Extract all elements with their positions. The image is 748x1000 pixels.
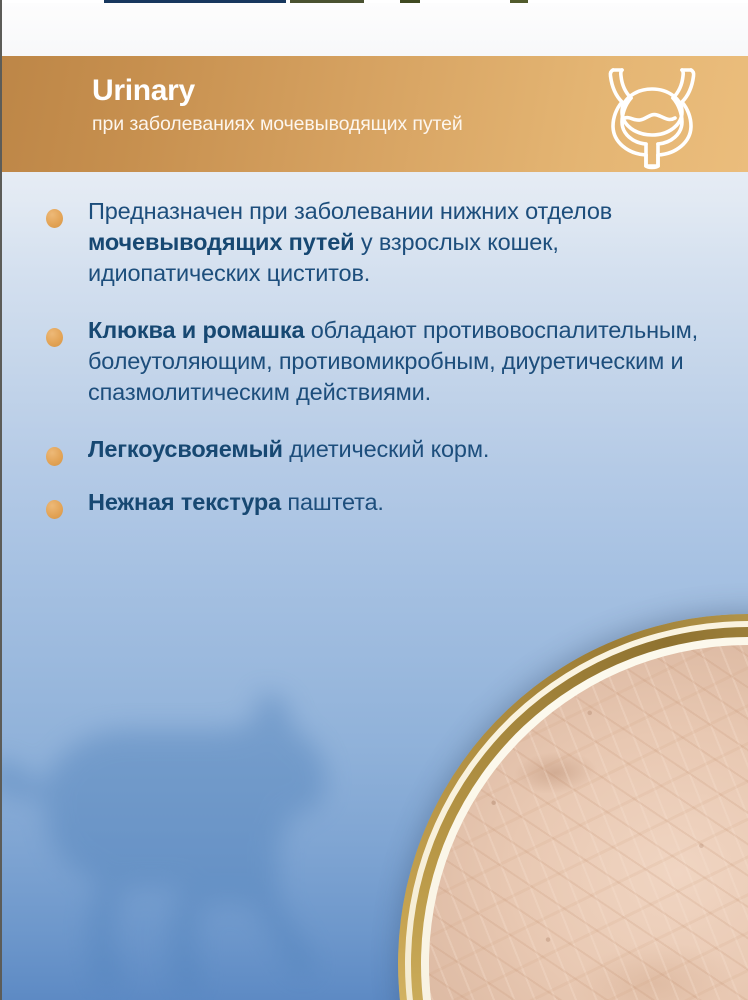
- top-white-margin: [0, 3, 748, 56]
- bullet-dot-icon: [46, 209, 63, 228]
- bullet-text: Легкоусвояемый диетический корм.: [88, 434, 724, 465]
- pate-surface: [408, 624, 748, 1000]
- cat-silhouette-icon: [0, 640, 442, 1000]
- list-item: Легкоусвояемый диетический корм.: [0, 434, 748, 465]
- bullet-text: Нежная текстура паштета.: [88, 487, 724, 518]
- list-item: Нежная текстура паштета.: [0, 487, 748, 518]
- product-info-slide: Urinary при заболеваниях мочевыводящих п…: [0, 0, 748, 1000]
- bladder-icon: [600, 62, 704, 170]
- feature-list: Предназначен при заболевании нижних отде…: [0, 196, 748, 540]
- page-subtitle: при заболеваниях мочевыводящих путей: [92, 113, 463, 135]
- bullet-dot-icon: [46, 328, 63, 347]
- bullet-dot-icon: [46, 447, 63, 466]
- header-text-group: Urinary при заболеваниях мочевыводящих п…: [92, 75, 463, 135]
- bullet-dot-icon: [46, 500, 63, 519]
- header-band: Urinary при заболеваниях мочевыводящих п…: [0, 56, 748, 172]
- pate-grain-texture: [408, 624, 748, 1000]
- bullet-text: Предназначен при заболевании нижних отде…: [88, 196, 724, 289]
- left-edge-border: [0, 0, 2, 1000]
- list-item: Предназначен при заболевании нижних отде…: [0, 196, 748, 289]
- cut-off-content-strip: [0, 0, 748, 3]
- page-title: Urinary: [92, 75, 463, 107]
- bullet-text: Клюква и ромашка обладают противовоспали…: [88, 315, 724, 408]
- list-item: Клюква и ромашка обладают противовоспали…: [0, 315, 748, 408]
